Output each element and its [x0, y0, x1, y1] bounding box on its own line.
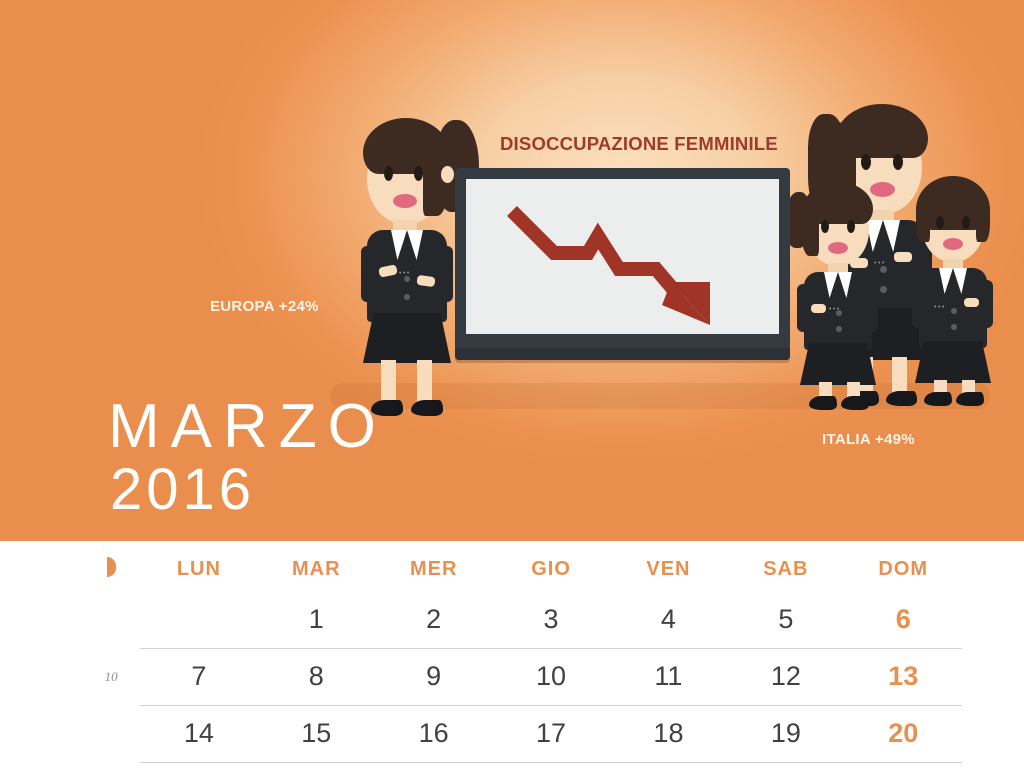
shoe-right [956, 392, 984, 406]
year-title: 2016 [110, 461, 255, 519]
date-cell[interactable]: 18 [610, 706, 727, 763]
label-italia: ITALIA +49% [822, 431, 915, 448]
date-cell[interactable] [140, 592, 257, 649]
shoe-right [841, 396, 869, 410]
calendar-header-row: LUN MAR MER GIO VEN SAB DOM [82, 541, 962, 592]
date-cell[interactable]: 12 [727, 649, 844, 706]
date-cell[interactable]: 16 [375, 706, 492, 763]
eye-left [821, 220, 829, 233]
eye-right [847, 220, 855, 233]
eye-left [384, 166, 393, 181]
cuff-dots: ••• [399, 270, 411, 277]
monitor [455, 168, 790, 398]
day-header-dom: DOM [845, 541, 962, 592]
date-cell-sunday[interactable]: 20 [845, 706, 962, 763]
date-cell[interactable]: 15 [258, 706, 375, 763]
arm-right [861, 284, 878, 332]
jacket-button [836, 326, 842, 332]
mouth [393, 194, 417, 208]
calendar-week-row: 14 15 16 17 18 19 20 [82, 706, 962, 763]
date-cell[interactable]: 1 [258, 592, 375, 649]
day-header-sab: SAB [727, 541, 844, 592]
cuff-dots: ••• [829, 306, 841, 313]
calendar-week-row: 1 2 3 4 5 6 [82, 592, 962, 649]
eye-right [962, 216, 970, 229]
skirt [915, 341, 991, 383]
eye-left [936, 216, 944, 229]
chart-title: DISOCCUPAZIONE FEMMINILE [500, 133, 778, 155]
calendar-grid: LUN MAR MER GIO VEN SAB DOM 1 2 3 4 5 6 [0, 541, 1024, 768]
date-cell[interactable]: 4 [610, 592, 727, 649]
date-cell[interactable]: 5 [727, 592, 844, 649]
arm-left [912, 280, 929, 328]
date-cell[interactable]: 17 [492, 706, 609, 763]
declining-trend-arrow [466, 179, 779, 334]
week-number [82, 706, 140, 763]
date-cell[interactable]: 9 [375, 649, 492, 706]
date-cell[interactable]: 10 [492, 649, 609, 706]
hero-illustration: ••• ••• [0, 0, 1024, 541]
shoe-left [809, 396, 837, 410]
hair-side-left [916, 196, 930, 242]
cuff-dots: ••• [934, 304, 946, 311]
character-front-left: ••• [795, 178, 890, 406]
day-header-mer: MER [375, 541, 492, 592]
half-moon-icon [107, 557, 116, 577]
jacket-button [951, 308, 957, 314]
skirt [363, 313, 451, 363]
day-header-ven: VEN [610, 541, 727, 592]
shoe-right [411, 400, 443, 416]
calendar-table: LUN MAR MER GIO VEN SAB DOM 1 2 3 4 5 6 [82, 541, 962, 763]
eye-left [861, 154, 871, 170]
character-front-right: ••• [908, 172, 1003, 406]
shoe-left [924, 392, 952, 406]
date-cell[interactable]: 19 [727, 706, 844, 763]
date-cell[interactable]: 7 [140, 649, 257, 706]
mouth [943, 238, 963, 250]
week-number [82, 592, 140, 649]
arm-left [361, 246, 381, 302]
date-cell[interactable]: 2 [375, 592, 492, 649]
month-title: MARZO [108, 396, 387, 458]
date-cell[interactable]: 11 [610, 649, 727, 706]
skirt [800, 343, 876, 385]
hair-side-right [976, 196, 990, 242]
eye-right [893, 154, 903, 170]
jacket-button [951, 324, 957, 330]
hair-side [801, 198, 819, 256]
date-cell[interactable]: 8 [258, 649, 375, 706]
arm-right [433, 246, 453, 302]
mouth [828, 242, 848, 254]
date-cell-sunday[interactable]: 13 [845, 649, 962, 706]
day-header-mar: MAR [258, 541, 375, 592]
date-cell[interactable]: 3 [492, 592, 609, 649]
moon-phase-cell [82, 541, 140, 592]
day-header-lun: LUN [140, 541, 257, 592]
date-cell[interactable]: 14 [140, 706, 257, 763]
hand-left [811, 304, 826, 313]
hand-right [964, 298, 979, 307]
jacket-button [404, 294, 410, 300]
eye-right [414, 166, 423, 181]
label-europa: EUROPA +24% [210, 298, 319, 315]
calendar-week-row: 10 7 8 9 10 11 12 13 [82, 649, 962, 706]
ear [441, 166, 454, 183]
date-cell-sunday[interactable]: 6 [845, 592, 962, 649]
week-number: 10 [82, 649, 140, 706]
day-header-gio: GIO [492, 541, 609, 592]
